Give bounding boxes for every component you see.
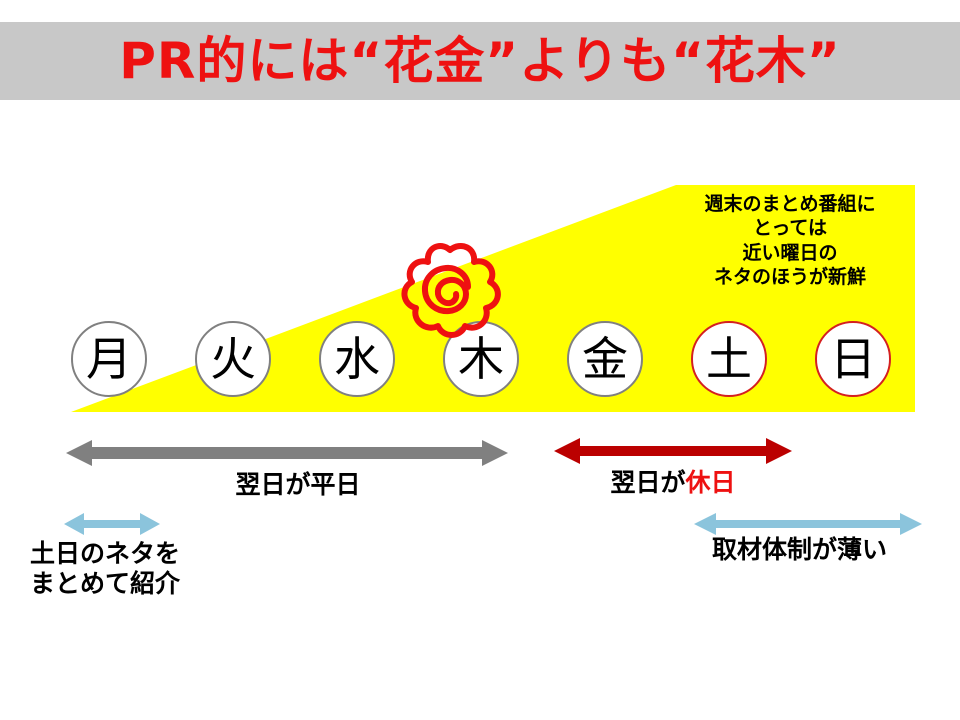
bottom-right-caption: 取材体制が薄い [712,535,887,565]
weekend-note-line-4: ネタのほうが新鮮 [660,265,920,289]
day-circle-sat[interactable]: 土 [691,321,767,397]
day-circle-sun[interactable]: 日 [815,321,891,397]
day-label-tue: 火 [210,336,256,382]
day-label-mon: 月 [86,336,132,382]
bottom-right-arrow [694,512,922,536]
holiday-run-caption-highlight: 休日 [686,468,736,497]
red-rose-flower-icon [398,240,502,338]
bottom-left-caption: 土日のネタを まとめて紹介 [30,539,180,598]
holiday-run-caption: 翌日が休日 [560,468,786,498]
day-circle-mon[interactable]: 月 [71,321,147,397]
day-label-wed: 水 [334,336,380,382]
holiday-run-arrow [554,438,792,464]
bottom-left-caption-line-2: まとめて紹介 [30,569,180,599]
weekday-run-arrow [66,440,508,466]
day-circle-tue[interactable]: 火 [195,321,271,397]
weekend-note-line-3: 近い曜日の [660,241,920,265]
holiday-run-caption-prefix: 翌日が [610,468,685,497]
title-banner: PR的には“花金”よりも“花木” [0,22,960,100]
day-circle-wed[interactable]: 水 [319,321,395,397]
page-title: PR的には“花金”よりも“花木” [119,36,841,86]
weekend-note-line-2: とっては [660,216,920,240]
weekday-run-caption: 翌日が平日 [148,470,448,500]
day-label-sun: 日 [830,336,876,382]
day-circle-fri[interactable]: 金 [567,321,643,397]
bottom-left-caption-line-1: 土日のネタを [30,539,180,569]
day-label-sat: 土 [706,336,752,382]
day-label-thu: 木 [458,336,504,382]
weekend-note-line-1: 週末のまとめ番組に [660,192,920,216]
bottom-left-arrow [64,512,160,536]
day-label-fri: 金 [582,336,628,382]
weekend-note: 週末のまとめ番組に とっては 近い曜日の ネタのほうが新鮮 [660,192,920,289]
